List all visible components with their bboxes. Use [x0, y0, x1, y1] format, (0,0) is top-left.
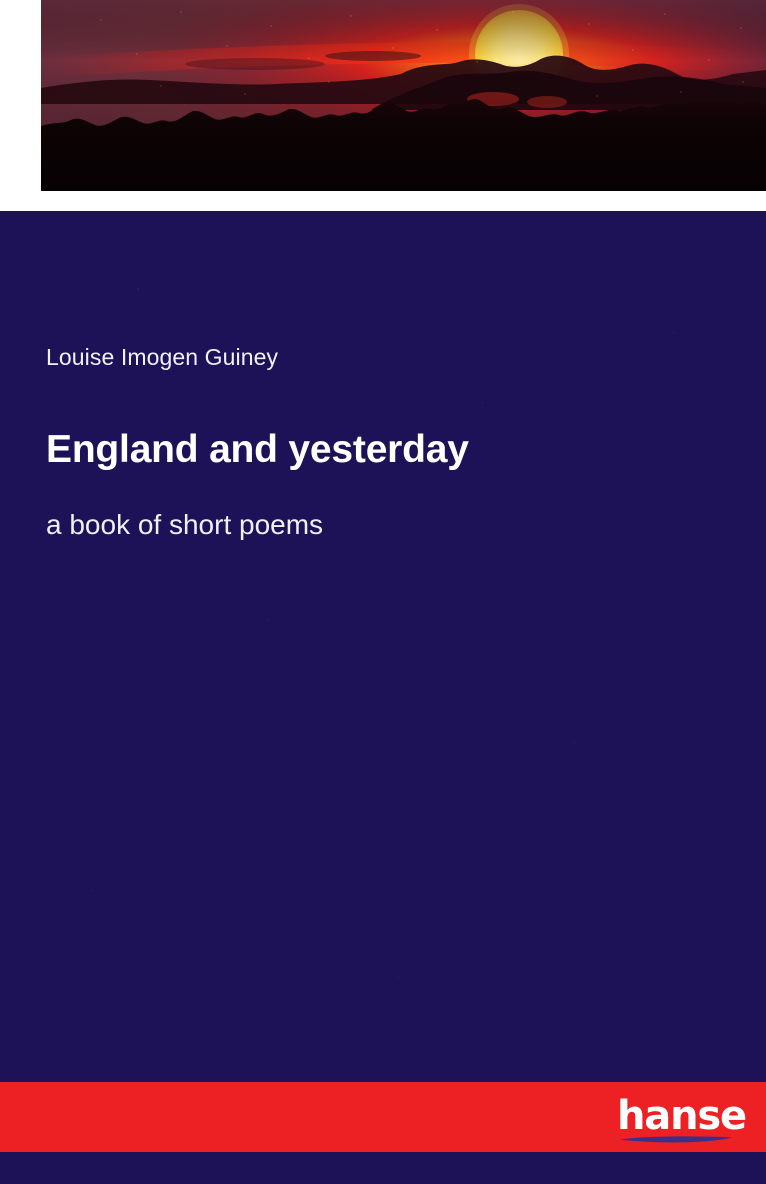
navy-texture [0, 211, 766, 1082]
author-name: Louise Imogen Guiney [46, 344, 706, 372]
cover-photo-band [0, 0, 766, 211]
logo-swoosh-icon [618, 1135, 734, 1145]
cover-body: Louise Imogen Guiney England and yesterd… [0, 211, 766, 1082]
cover-text-block: Louise Imogen Guiney England and yesterd… [46, 344, 706, 542]
publisher-logo-text: hanse [617, 1094, 746, 1138]
sunset-photograph-art [41, 0, 766, 191]
publisher-logo: hanse [617, 1094, 737, 1152]
sunset-photograph [41, 0, 766, 191]
book-cover: Louise Imogen Guiney England and yesterd… [0, 0, 766, 1184]
footer-navy-strip [0, 1152, 766, 1184]
book-title: England and yesterday [46, 428, 706, 473]
book-subtitle: a book of short poems [46, 508, 706, 542]
